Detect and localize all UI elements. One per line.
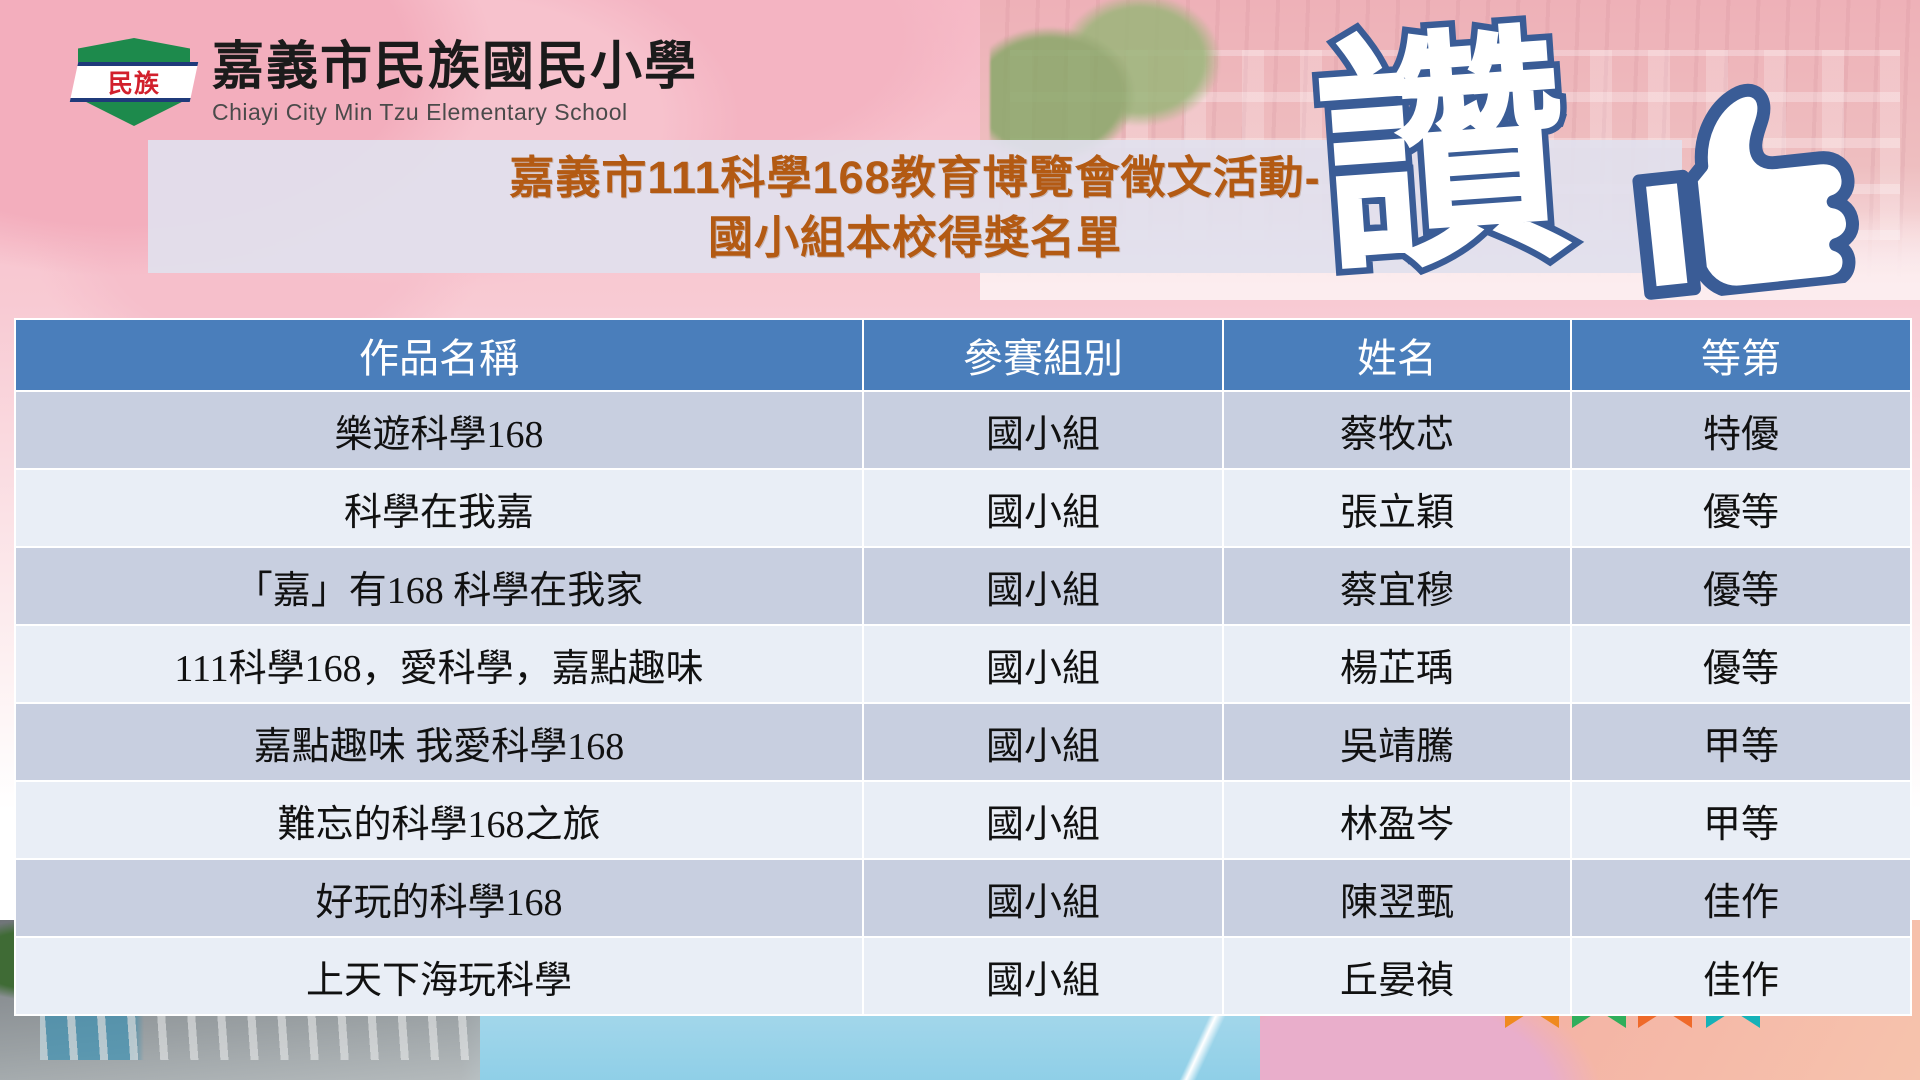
column-header-name: 姓名 [1223,319,1571,391]
cell-rank: 優等 [1571,625,1911,703]
cell-work: 好玩的科學168 [15,859,863,937]
cell-rank: 甲等 [1571,781,1911,859]
cell-group: 國小組 [863,625,1223,703]
cell-rank: 佳作 [1571,937,1911,1015]
table-row: 樂遊科學168國小組蔡牧芯特優 [15,391,1911,469]
cell-name: 蔡宜穆 [1223,547,1571,625]
cell-name: 張立穎 [1223,469,1571,547]
cell-work: 樂遊科學168 [15,391,863,469]
table-row: 嘉點趣味 我愛科學168國小組吳靖騰甲等 [15,703,1911,781]
table-row: 難忘的科學168之旅國小組林盈岑甲等 [15,781,1911,859]
school-name-chinese: 嘉義市民族國民小學 [212,41,698,93]
school-name-block: 嘉義市民族國民小學 Chiayi City Min Tzu Elementary… [212,41,698,124]
cell-rank: 甲等 [1571,703,1911,781]
table-row: 「嘉」有168 科學在我家國小組蔡宜穆優等 [15,547,1911,625]
school-branding: 民族 嘉義市民族國民小學 Chiayi City Min Tzu Element… [78,38,698,126]
cell-work: 上天下海玩科學 [15,937,863,1015]
school-crest-logo: 民族 [78,38,190,126]
cell-name: 楊芷瑀 [1223,625,1571,703]
cell-group: 國小組 [863,547,1223,625]
cell-rank: 優等 [1571,469,1911,547]
title-plate: 嘉義市111科學168教育博覽會徵文活動- 國小組本校得獎名單 [148,140,1682,273]
cell-name: 林盈岑 [1223,781,1571,859]
cell-name: 吳靖騰 [1223,703,1571,781]
cell-work: 111科學168，愛科學，嘉點趣味 [15,625,863,703]
cell-name: 丘晏禎 [1223,937,1571,1015]
cell-rank: 佳作 [1571,859,1911,937]
cell-work: 科學在我嘉 [15,469,863,547]
cell-work: 嘉點趣味 我愛科學168 [15,703,863,781]
results-table: 作品名稱 參賽組別 姓名 等第 樂遊科學168國小組蔡牧芯特優科學在我嘉國小組張… [14,318,1912,1016]
cell-group: 國小組 [863,703,1223,781]
cell-group: 國小組 [863,859,1223,937]
table-row: 科學在我嘉國小組張立穎優等 [15,469,1911,547]
cell-group: 國小組 [863,469,1223,547]
column-header-rank: 等第 [1571,319,1911,391]
table-row: 111科學168，愛科學，嘉點趣味國小組楊芷瑀優等 [15,625,1911,703]
page-title: 嘉義市111科學168教育博覽會徵文活動- 國小組本校得獎名單 [148,148,1682,268]
slide-page: 民族 嘉義市民族國民小學 Chiayi City Min Tzu Element… [0,0,1920,1080]
crest-band: 民族 [70,62,199,102]
column-header-group: 參賽組別 [863,319,1223,391]
cell-name: 陳翌甄 [1223,859,1571,937]
cell-name: 蔡牧芯 [1223,391,1571,469]
table-body: 樂遊科學168國小組蔡牧芯特優科學在我嘉國小組張立穎優等「嘉」有168 科學在我… [15,391,1911,1015]
crest-label: 民族 [108,64,160,100]
table-header-row: 作品名稱 參賽組別 姓名 等第 [15,319,1911,391]
cell-group: 國小組 [863,781,1223,859]
results-table-container: 作品名稱 參賽組別 姓名 等第 樂遊科學168國小組蔡牧芯特優科學在我嘉國小組張… [14,318,1910,1016]
column-header-work: 作品名稱 [15,319,863,391]
cell-work: 「嘉」有168 科學在我家 [15,547,863,625]
cell-rank: 特優 [1571,391,1911,469]
school-name-english: Chiayi City Min Tzu Elementary School [212,101,698,124]
cell-group: 國小組 [863,937,1223,1015]
cell-rank: 優等 [1571,547,1911,625]
cell-group: 國小組 [863,391,1223,469]
cell-work: 難忘的科學168之旅 [15,781,863,859]
table-row: 好玩的科學168國小組陳翌甄佳作 [15,859,1911,937]
table-row: 上天下海玩科學國小組丘晏禎佳作 [15,937,1911,1015]
